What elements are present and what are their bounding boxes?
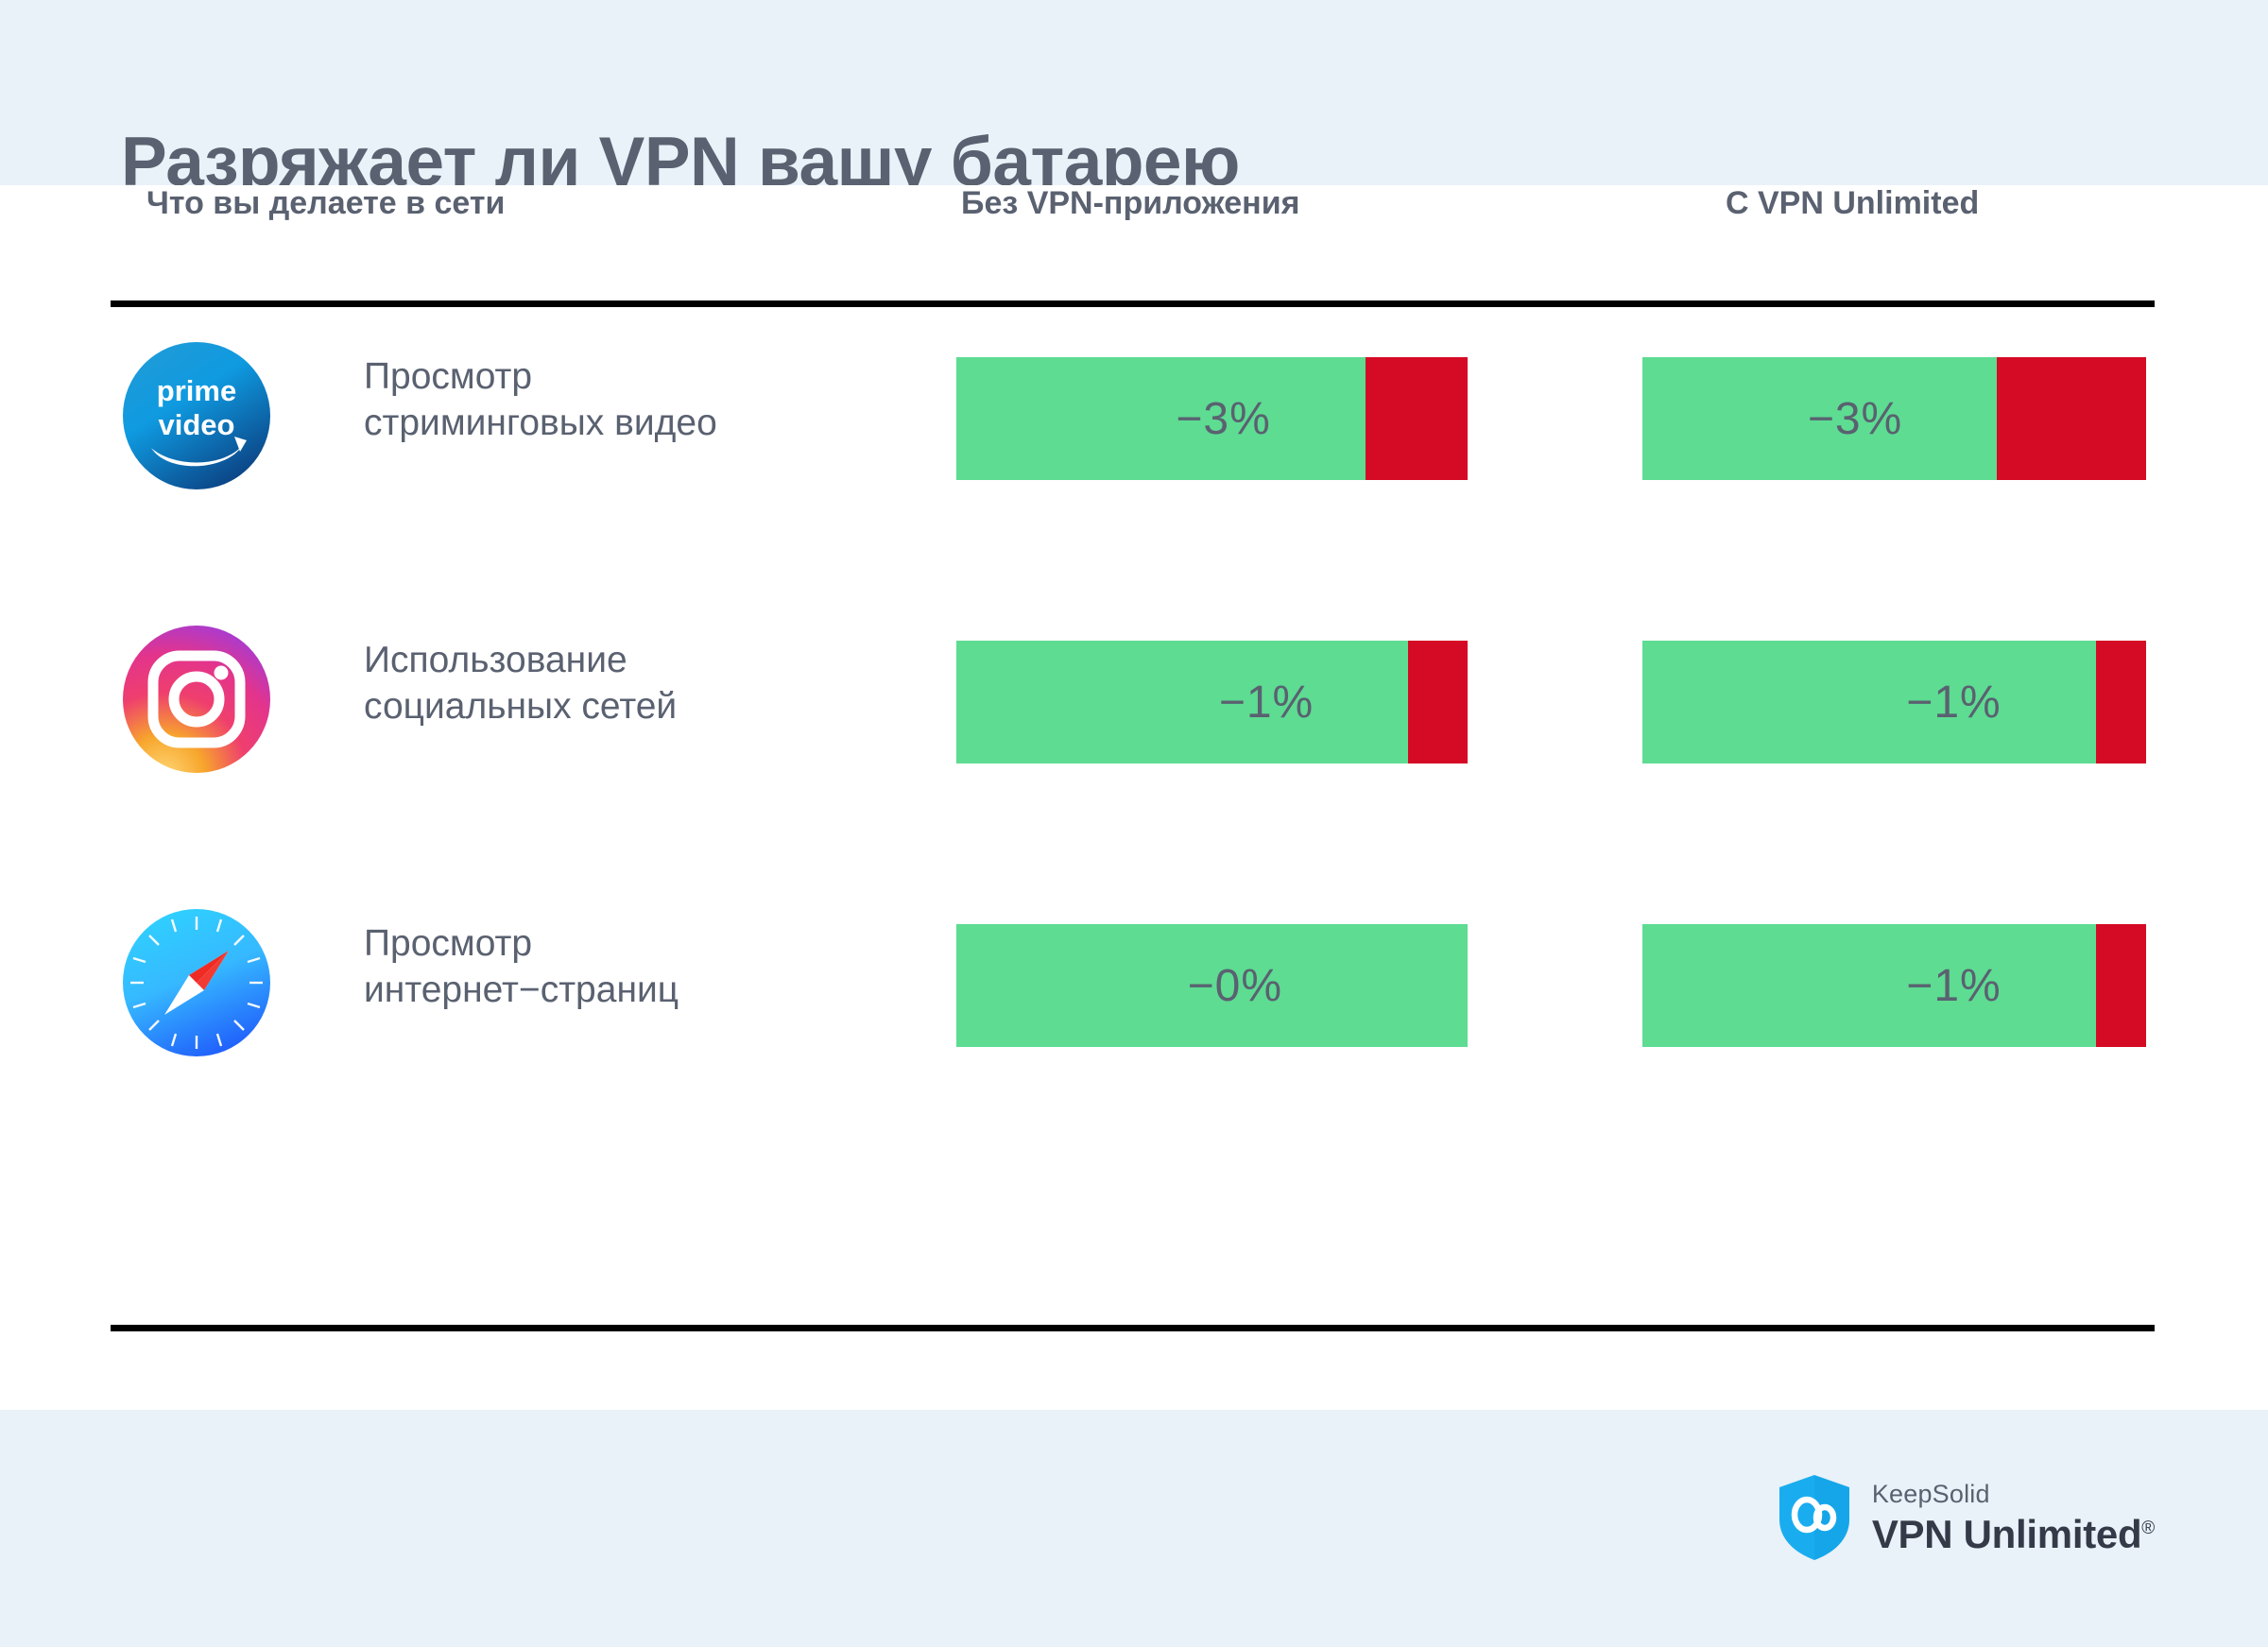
bar-value-label: −3% xyxy=(1176,393,1365,445)
row-label: Просмотр интернет−страниц xyxy=(364,921,679,1014)
bar-segment-drained xyxy=(2096,924,2146,1047)
safari-icon xyxy=(123,909,270,1056)
bar-with-vpn: −1% xyxy=(1642,641,2146,763)
comparison-table: Что вы делаете в сети Без VPN-приложения… xyxy=(0,185,2268,1410)
bar-segment-drained xyxy=(1997,357,2146,480)
table-row: Просмотр интернет−страниц −0% −1% xyxy=(0,869,2268,1153)
table-row: Использование социальных сетей −1% −1% xyxy=(0,586,2268,869)
infographic-page: Разряжает ли VPN вашу батарею Что вы дел… xyxy=(0,0,2268,1647)
logo-product-name: VPN Unlimited xyxy=(1872,1512,2141,1556)
bar-value-label: −0% xyxy=(1188,960,1468,1012)
bar-without-vpn: −3% xyxy=(956,357,1468,480)
column-header-without-vpn: Без VPN-приложения xyxy=(961,185,1299,222)
bar-with-vpn: −1% xyxy=(1642,924,2146,1047)
bar-value-label: −3% xyxy=(1808,393,1997,445)
instagram-icon xyxy=(123,626,270,773)
logo-text-block: KeepSolid VPN Unlimited® xyxy=(1872,1482,2155,1554)
bar-without-vpn: −0% xyxy=(956,924,1468,1047)
bar-segment-remaining: −3% xyxy=(956,357,1366,480)
registered-mark: ® xyxy=(2141,1518,2155,1538)
bar-segment-drained xyxy=(2096,641,2146,763)
bar-segment-drained xyxy=(1408,641,1468,763)
bar-value-label: −1% xyxy=(1219,677,1408,729)
bar-segment-remaining: −1% xyxy=(1642,641,2096,763)
footer-divider xyxy=(111,1325,2155,1331)
row-label: Использование социальных сетей xyxy=(364,638,677,730)
table-row: prime video Просмотр стриминговых видео … xyxy=(0,302,2268,586)
bar-value-label: −1% xyxy=(1906,677,2095,729)
bar-with-vpn: −3% xyxy=(1642,357,2146,480)
svg-text:prime: prime xyxy=(157,374,236,407)
footer-band: KeepSolid VPN Unlimited® xyxy=(0,1410,2268,1647)
bar-segment-remaining: −1% xyxy=(956,641,1408,763)
row-label: Просмотр стриминговых видео xyxy=(364,354,717,447)
header-band: Разряжает ли VPN вашу батарею xyxy=(0,0,2268,185)
column-header-activity: Что вы делаете в сети xyxy=(146,185,505,222)
amazon-prime-video-icon: prime video xyxy=(123,342,270,489)
logo-brand: KeepSolid xyxy=(1872,1482,2155,1507)
svg-text:video: video xyxy=(159,408,235,441)
table-column-headers: Что вы делаете в сети Без VPN-приложения… xyxy=(0,185,2268,302)
bar-segment-drained xyxy=(1366,357,1468,480)
bar-segment-remaining: −3% xyxy=(1642,357,1997,480)
keepsolid-logo[interactable]: KeepSolid VPN Unlimited® xyxy=(1778,1474,2155,1561)
logo-product: VPN Unlimited® xyxy=(1872,1515,2155,1554)
bar-segment-remaining: −0% xyxy=(956,924,1468,1047)
bar-without-vpn: −1% xyxy=(956,641,1468,763)
column-header-with-vpn: С VPN Unlimited xyxy=(1726,185,1979,222)
bar-value-label: −1% xyxy=(1906,960,2095,1012)
shield-icon xyxy=(1778,1474,1851,1561)
table-rows: prime video Просмотр стриминговых видео … xyxy=(0,302,2268,1153)
bar-segment-remaining: −1% xyxy=(1642,924,2096,1047)
